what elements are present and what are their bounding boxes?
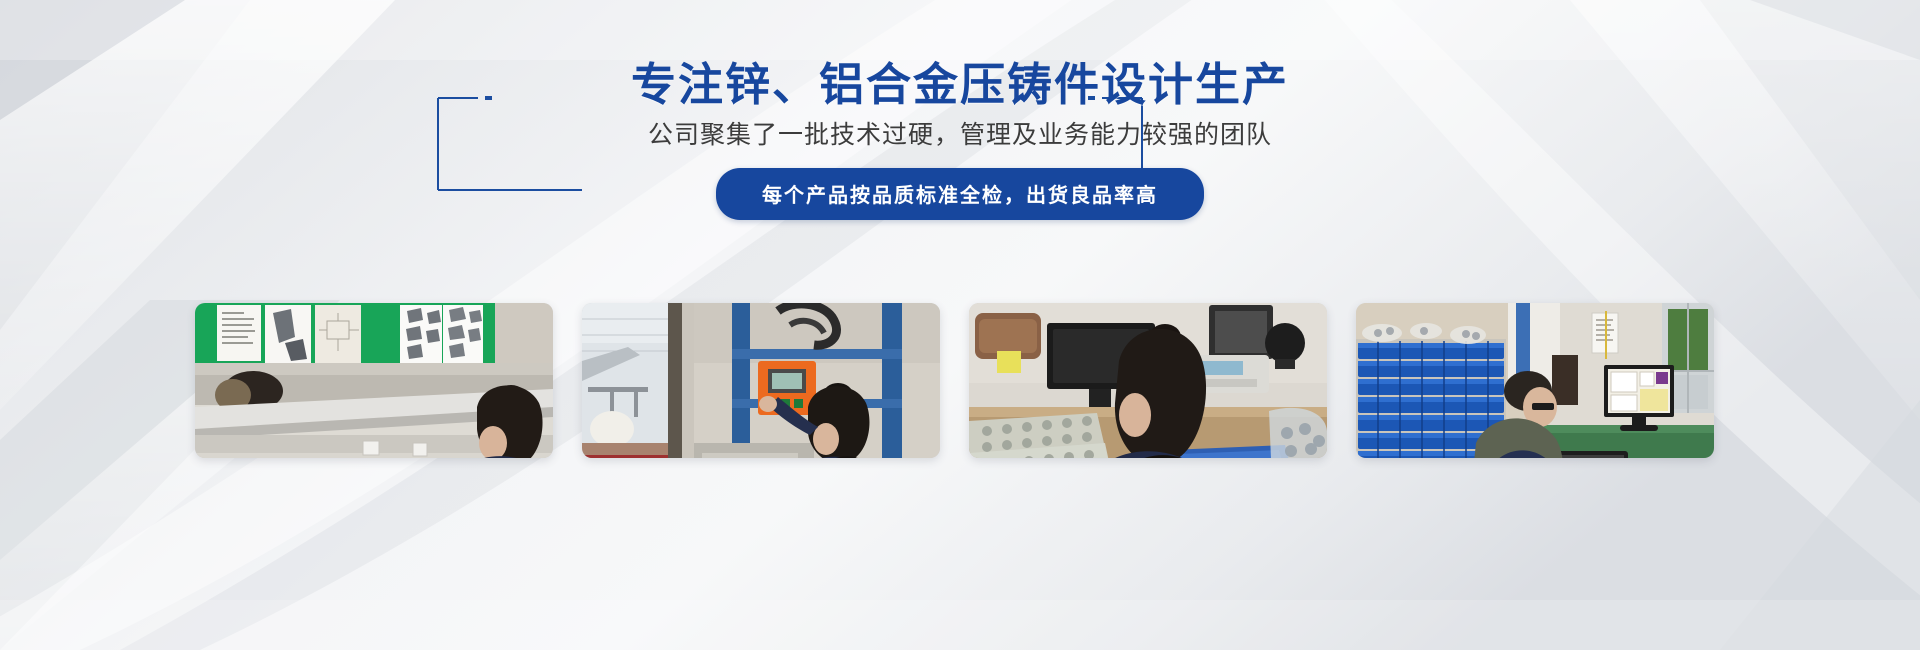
promo-banner: 专注锌、铝合金压铸件设计生产 公司聚集了一批技术过硬，管理及业务能力较强的团队 … xyxy=(0,0,1920,650)
headline-block: 专注锌、铝合金压铸件设计生产 公司聚集了一批技术过硬，管理及业务能力较强的团队 … xyxy=(0,0,1920,240)
quality-badge: 每个产品按品质标准全检，出货良品率高 xyxy=(716,168,1204,220)
photo-inspection-station xyxy=(195,303,553,458)
photo-packing-desk xyxy=(969,303,1327,458)
badge-row: 每个产品按品质标准全检，出货良品率高 xyxy=(0,168,1920,220)
page-title: 专注锌、铝合金压铸件设计生产 xyxy=(0,59,1920,111)
photo-measuring-room xyxy=(1356,303,1714,458)
page-subtitle: 公司聚集了一批技术过硬，管理及业务能力较强的团队 xyxy=(0,118,1920,152)
photo-die-casting-machine xyxy=(582,303,940,458)
factory-photo-strip xyxy=(195,303,1725,458)
